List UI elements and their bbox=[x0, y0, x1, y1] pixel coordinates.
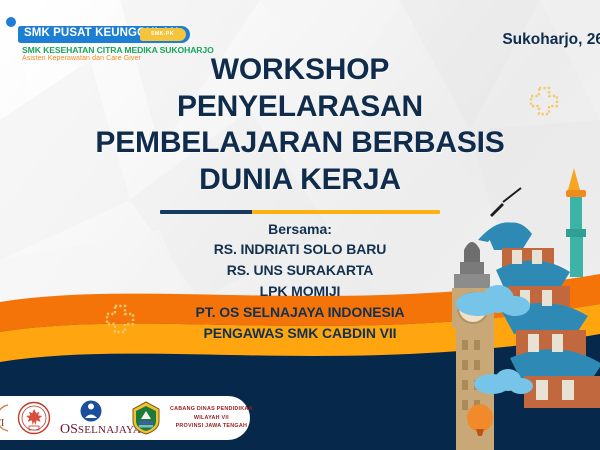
partner-item: RS. INDRIATI SOLO BARU bbox=[0, 239, 600, 260]
logo-partial-left-icon: TI bbox=[0, 402, 8, 434]
title-line-4: DUNIA KERJA bbox=[0, 162, 600, 199]
title-divider bbox=[160, 210, 440, 214]
divider-amber-segment bbox=[252, 210, 440, 214]
event-date: Sukoharjo, 26 bbox=[502, 31, 600, 49]
workshop-poster: SMK PUSAT KEUNGGULAN SMK-PK SMK KESEHATA… bbox=[0, 0, 600, 450]
partner-item: RS. UNS SURAKARTA bbox=[0, 260, 600, 281]
footer-logo-bar: TI OSSELNAJAYA bbox=[0, 396, 250, 440]
poster-title: WORKSHOP PENYELARASAN PEMBELAJARAN BERBA… bbox=[0, 52, 600, 198]
partners-heading: Bersama: bbox=[0, 219, 600, 239]
cabdin-line-2: WILAYAH VII bbox=[170, 414, 253, 422]
brand-tagline: Asisten Keperawatan dan Care Giver bbox=[22, 55, 141, 62]
title-line-2: PENYELARASAN bbox=[0, 89, 600, 126]
cabdin-line-1: CABANG DINAS PENDIDIKAN bbox=[170, 405, 253, 413]
brand-badge-tag-text: SMK-PK bbox=[151, 31, 174, 37]
partner-item: LPK MOMIJI bbox=[0, 281, 600, 302]
partner-item: PENGAWAS SMK CABDIN VII bbox=[0, 323, 600, 344]
logo-maple-seal-icon bbox=[17, 401, 51, 435]
os-selnajaya-label-main: OS bbox=[60, 422, 78, 437]
cabdin-line-3: PROVINSI JAWA TENGAH bbox=[170, 422, 253, 430]
os-selnajaya-mark-icon bbox=[80, 400, 102, 422]
balloon-icon bbox=[467, 404, 493, 436]
brand-logo: SMK PUSAT KEUNGGULAN SMK-PK SMK KESEHATA… bbox=[0, 4, 200, 64]
logo-os-selnajaya: OSSELNAJAYA bbox=[60, 400, 122, 437]
partner-item: PT. OS SELNAJAYA INDONESIA bbox=[0, 302, 600, 323]
logo-jateng-emblem-icon bbox=[131, 401, 161, 435]
brand-school-name: SMK KESEHATAN CITRA MEDIKA SUKOHARJO bbox=[22, 45, 214, 55]
divider-navy-segment bbox=[160, 210, 252, 214]
title-line-3: PEMBELAJARAN BERBASIS bbox=[0, 125, 600, 162]
partners-block: Bersama: RS. INDRIATI SOLO BARU RS. UNS … bbox=[0, 219, 600, 344]
logo-cabang-dinas-text: CABANG DINAS PENDIDIKAN WILAYAH VII PROV… bbox=[170, 405, 253, 430]
